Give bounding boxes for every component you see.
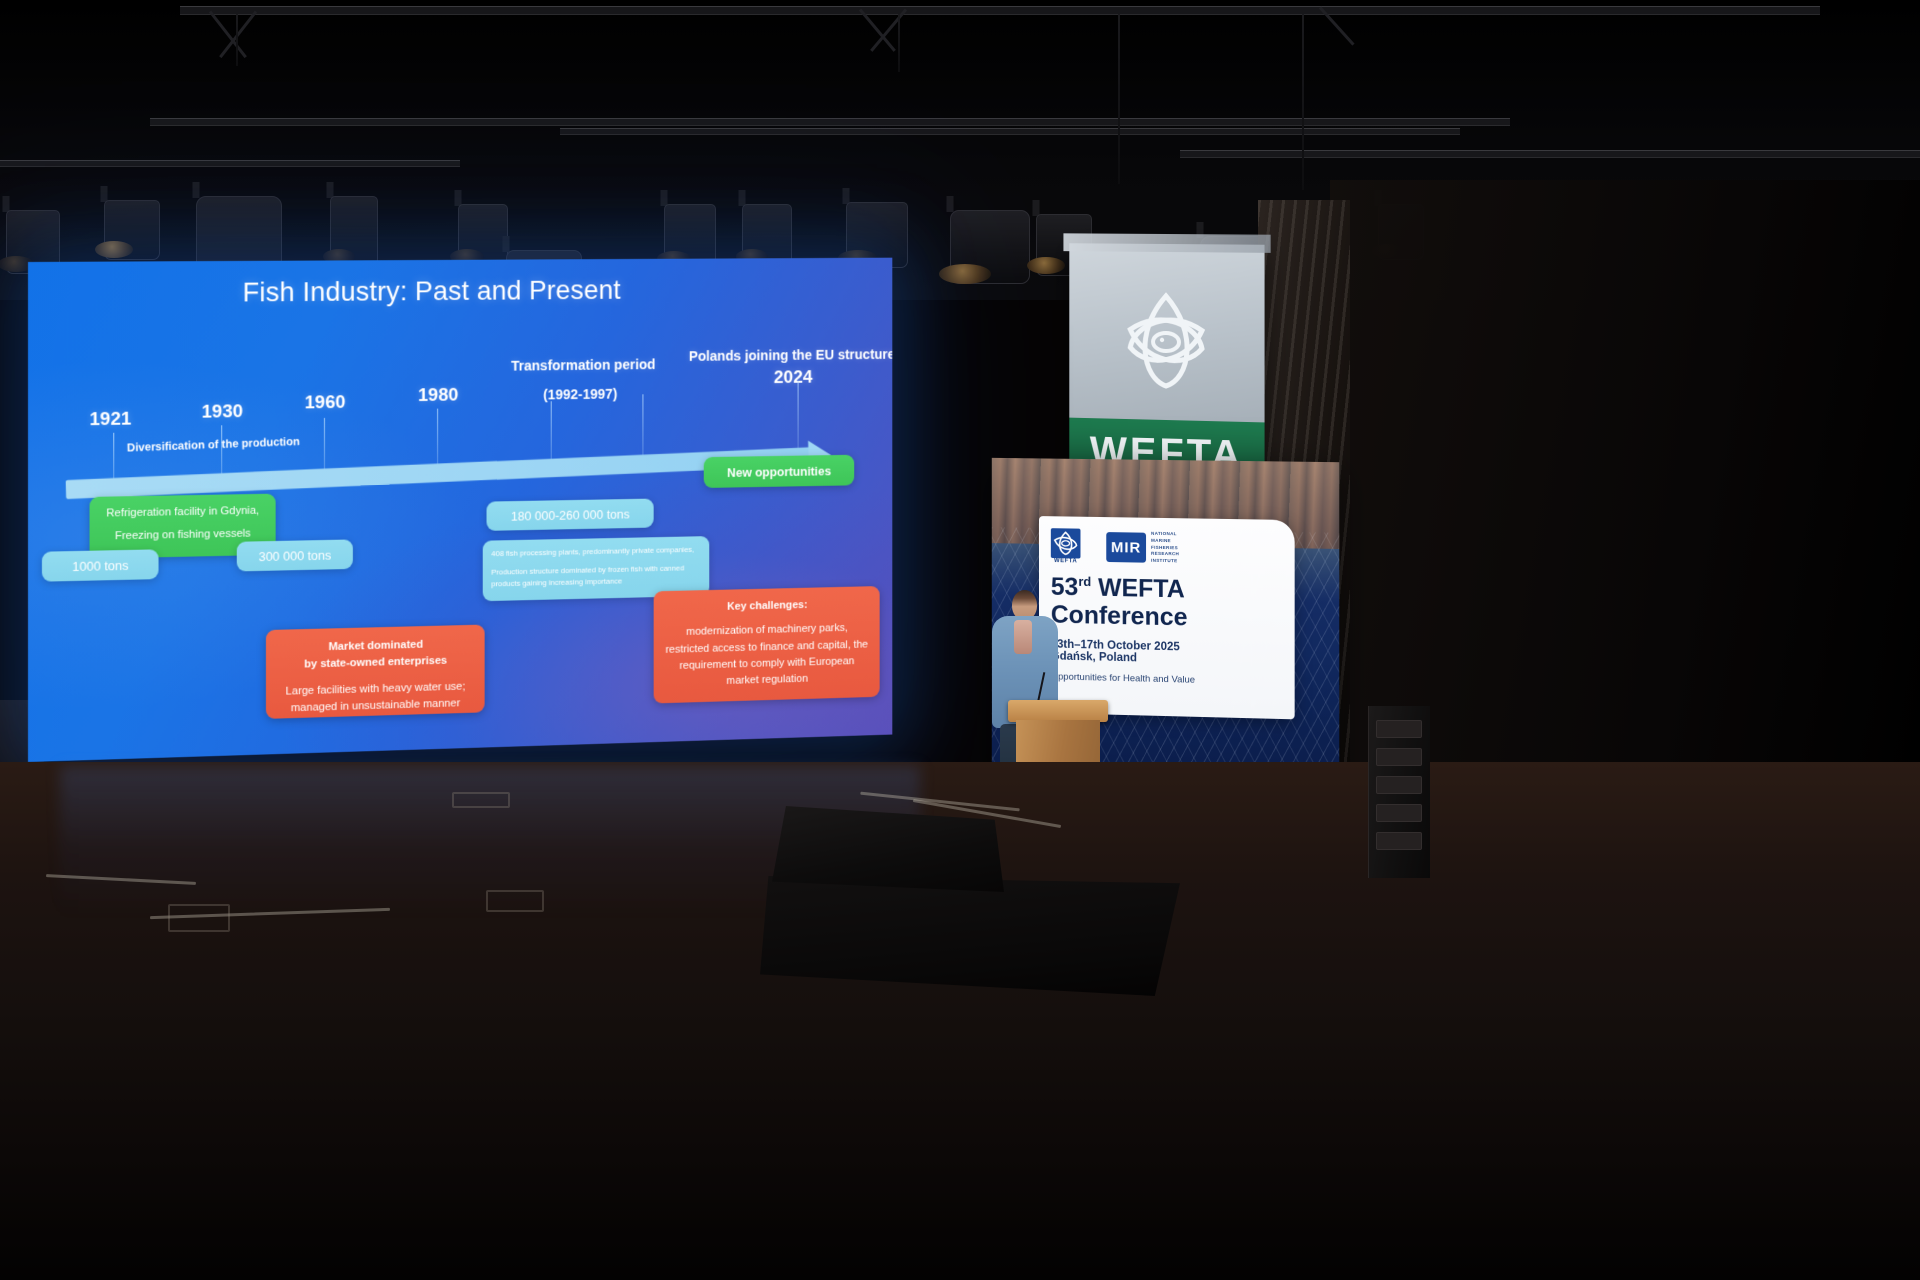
equipment-rack [1368, 706, 1430, 878]
slide-box-new-opportunities: New opportunities [704, 455, 854, 488]
wefta-logo-label: WEFTA [1051, 558, 1081, 564]
floor-hatch [168, 904, 230, 932]
slide-box-tons-1000: 1000 tons [42, 549, 159, 581]
wefta-logo-icon [1051, 528, 1081, 558]
mir-logo: MIR NATIONAL MARINE FISHERIES RESEARCH I… [1106, 530, 1179, 564]
speaker-scarf [1014, 620, 1032, 654]
truss-beam [150, 118, 1510, 126]
slide-surface: Fish Industry: Past and Present 1921 193… [28, 258, 892, 762]
rigging-cable [1302, 14, 1304, 190]
timeline-tick [642, 394, 643, 460]
timeline-tick [551, 401, 552, 465]
box-line: 1000 tons [48, 555, 153, 577]
conference-event-word: Conference [1051, 600, 1188, 631]
mir-sub-line: INSTITUTE [1151, 558, 1179, 565]
truss-beam [0, 160, 460, 167]
box-line: 180 000-260 000 tons [492, 504, 648, 526]
timeline-year: 1960 [305, 392, 346, 414]
floor-monitor-wedge [772, 806, 1004, 892]
truss-beam [180, 6, 1820, 15]
timeline-year: 1921 [90, 409, 132, 431]
slide-title: Fish Industry: Past and Present [243, 275, 621, 309]
wefta-triquetra-icon [1118, 285, 1214, 404]
box-line: 300 000 tons [243, 545, 348, 566]
box-line: New opportunities [711, 462, 847, 483]
truss-beam [1180, 150, 1920, 158]
floor-hatch [486, 890, 544, 912]
box-line: Key challenges: [663, 596, 871, 618]
box-line: 408 fish processing plants, predominantl… [491, 544, 701, 560]
slide-box-tons-300000: 300 000 tons [237, 539, 353, 571]
box-line: Production structure dominated by frozen… [491, 562, 701, 590]
box-line: Refrigeration facility in Gdynia, [99, 503, 266, 523]
stage-scene: WEFTA Fish Industry: Past and Present 19… [0, 0, 1920, 1280]
conference-title: 53rd WEFTA Conference [1051, 574, 1283, 634]
conference-info-card: WEFTA MIR NATIONAL MARINE FISHERIES RESE… [1039, 516, 1295, 719]
floor-hatch [452, 792, 510, 808]
projection-screen: Fish Industry: Past and Present 1921 193… [28, 258, 892, 762]
timeline-heading: Polands joining the EU structures [689, 347, 892, 365]
timeline-subheading: (1992-1997) [543, 387, 617, 403]
conference-org: WEFTA [1098, 574, 1185, 604]
logo-row: WEFTA MIR NATIONAL MARINE FISHERIES RESE… [1051, 526, 1283, 570]
timeline-year: 1980 [418, 385, 458, 407]
rigging-cable [898, 14, 900, 72]
timeline-heading: Transformation period [511, 357, 655, 374]
slide-box-market-dominated: Market dominated by state-owned enterpri… [266, 625, 485, 719]
slide-box-key-challenges: Key challenges: modernization of machine… [654, 586, 880, 703]
timeline-tick [437, 409, 438, 472]
timeline-tick [798, 381, 799, 450]
conference-tagline: Opportunities for Health and Value [1051, 671, 1283, 688]
wefta-logo: WEFTA [1051, 528, 1081, 564]
truss-brace [209, 11, 247, 59]
mir-logo-icon: MIR [1106, 532, 1146, 563]
conference-ordinal-suffix: rd [1078, 574, 1091, 589]
timeline-arrow-label: Diversification of the production [127, 436, 300, 454]
timeline-year: 1930 [202, 401, 243, 423]
rigging-cable [1118, 14, 1120, 184]
rigging-cable [236, 14, 238, 66]
banner-drape [1063, 233, 1270, 253]
wefta-wall-banner: WEFTA [1069, 243, 1264, 487]
timeline-year: 2024 [774, 367, 813, 389]
mir-logo-subtitle: NATIONAL MARINE FISHERIES RESEARCH INSTI… [1151, 531, 1179, 565]
slide-box-tons-180-260: 180 000-260 000 tons [487, 499, 654, 531]
truss-beam [560, 128, 1460, 135]
lectern-top [1008, 700, 1108, 722]
